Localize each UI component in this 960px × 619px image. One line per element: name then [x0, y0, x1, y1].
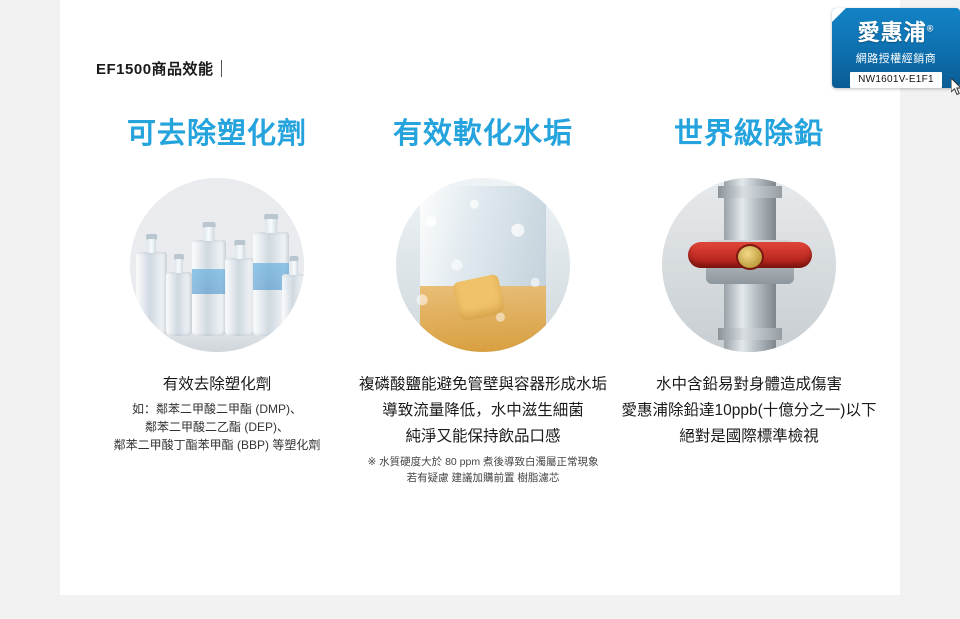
- pipe-band: [718, 186, 782, 198]
- red-valve-pipe-image: [662, 178, 836, 352]
- bottles-illustration: [130, 178, 304, 352]
- bottle: [225, 258, 255, 336]
- caption-note-line: 若有疑慮 建議加購前置 樹脂濾芯: [350, 470, 616, 486]
- caption-sub: 如：鄰苯二甲酸二甲酯 (DMP)、 鄰苯二甲酸二乙酯 (DEP)、 鄰苯二甲酸丁…: [84, 400, 350, 454]
- valve-hub: [736, 244, 764, 270]
- plastic-bottles-image: [130, 178, 304, 352]
- bottle: [282, 274, 304, 336]
- feature-column-scale: 有效軟化水垢 複磷酸鹽能避免管壁與容器形成水垢 導致流量降低，水中滋生細菌 純淨…: [350, 110, 616, 486]
- registered-mark-icon: ®: [927, 24, 935, 34]
- glass-illustration: [396, 178, 570, 352]
- frost-droplets: [396, 178, 570, 352]
- authorized-dealer-badge: 愛惠浦® 網路授權經銷商 NW1601V-E1F1: [832, 8, 960, 88]
- caption-sub-line: 導致流量降低，水中滋生細菌: [350, 400, 616, 422]
- badge-brand-name: 愛惠浦®: [832, 15, 960, 47]
- caption-main: 複磷酸鹽能避免管壁與容器形成水垢: [350, 374, 616, 396]
- caption-main: 有效去除塑化劑: [84, 374, 350, 396]
- document-page: EF1500商品效能 愛惠浦® 網路授權經銷商 NW1601V-E1F1 可去除…: [60, 0, 900, 595]
- feature-caption: 水中含鉛易對身體造成傷害 愛惠浦除鉛達10ppb(十億分之一)以下 絕對是國際標…: [616, 374, 882, 448]
- caption-sub-line: 純淨又能保持飲品口感: [350, 426, 616, 448]
- caption-sub-line: 鄰苯二甲酸二乙酯 (DEP)、: [84, 418, 350, 436]
- title-divider: [221, 60, 222, 77]
- feature-column-lead: 世界級除鉛 水中含鉛易對身體造成傷害 愛惠浦除鉛達10ppb(十億分之一)以下 …: [616, 110, 882, 486]
- caption-note: ※ 水質硬度大於 80 ppm 煮後導致白濁屬正常現象 若有疑慮 建議加購前置 …: [350, 454, 616, 486]
- bottle: [192, 240, 226, 336]
- caption-sub-line: 鄰苯二甲酸丁酯苯甲酯 (BBP) 等塑化劑: [84, 436, 350, 454]
- feature-column-plasticizer: 可去除塑化劑 有效去除塑化劑 如：鄰苯二甲酸二甲酯 (DMP)、 鄰苯二甲酸二乙…: [84, 110, 350, 486]
- page-title: EF1500商品效能: [96, 58, 214, 79]
- caption-note-line: ※ 水質硬度大於 80 ppm 煮後導致白濁屬正常現象: [350, 454, 616, 470]
- feature-title: 世界級除鉛: [616, 110, 882, 152]
- badge-brand-text: 愛惠浦: [858, 20, 927, 45]
- pipe-band: [718, 328, 782, 340]
- badge-subtitle: 網路授權經銷商: [832, 50, 960, 66]
- caption-sub-line: 如：鄰苯二甲酸二甲酯 (DMP)、: [84, 400, 350, 418]
- frosted-glass-image: [396, 178, 570, 352]
- feature-caption: 複磷酸鹽能避免管壁與容器形成水垢 導致流量降低，水中滋生細菌 純淨又能保持飲品口…: [350, 374, 616, 486]
- bottle: [166, 272, 192, 336]
- caption-main: 水中含鉛易對身體造成傷害: [616, 374, 882, 396]
- caption-sub-line: 絕對是國際標準檢視: [616, 426, 882, 448]
- page-header: EF1500商品效能: [96, 58, 222, 79]
- caption-sub-line: 愛惠浦除鉛達10ppb(十億分之一)以下: [616, 400, 882, 422]
- badge-corner-fold: [832, 8, 846, 22]
- badge-code: NW1601V-E1F1: [850, 72, 942, 88]
- valve-illustration: [662, 178, 836, 352]
- feature-columns: 可去除塑化劑 有效去除塑化劑 如：鄰苯二甲酸二甲酯 (DMP)、 鄰苯二甲酸二乙…: [84, 110, 884, 486]
- feature-title: 有效軟化水垢: [350, 110, 616, 152]
- feature-title: 可去除塑化劑: [84, 110, 350, 152]
- bottle: [136, 252, 167, 336]
- feature-caption: 有效去除塑化劑 如：鄰苯二甲酸二甲酯 (DMP)、 鄰苯二甲酸二乙酯 (DEP)…: [84, 374, 350, 454]
- bottle-label: [192, 269, 226, 294]
